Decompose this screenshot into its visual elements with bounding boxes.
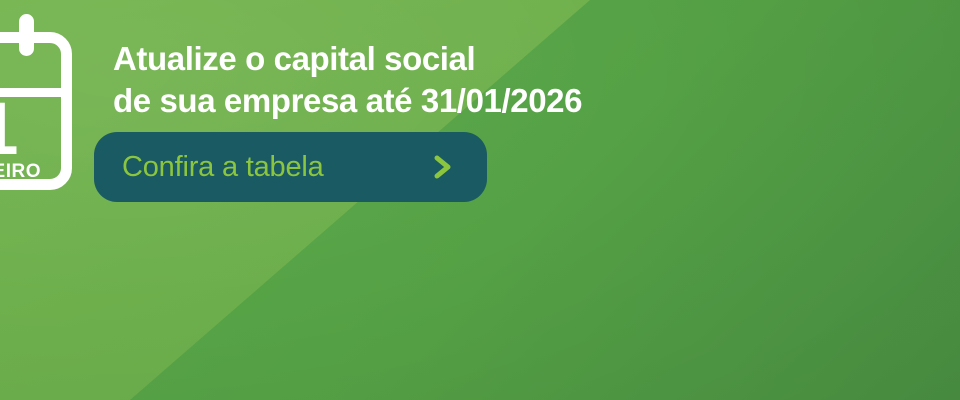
- calendar-month-label: JANEIRO: [0, 162, 72, 181]
- calendar-icon: 1 JANEIRO: [0, 14, 72, 190]
- headline-line-2: de sua empresa até 31/01/2026: [113, 80, 582, 122]
- headline: Atualize o capital social de sua empresa…: [113, 38, 582, 122]
- promo-banner: 1 JANEIRO Atualize o capital social de s…: [0, 0, 960, 400]
- headline-line-1: Atualize o capital social: [113, 38, 582, 80]
- cta-label: Confira a tabela: [122, 151, 324, 184]
- calendar-day-number: 1: [0, 92, 72, 166]
- chevron-right-icon: [427, 152, 457, 182]
- confira-a-tabela-button[interactable]: Confira a tabela: [94, 132, 487, 202]
